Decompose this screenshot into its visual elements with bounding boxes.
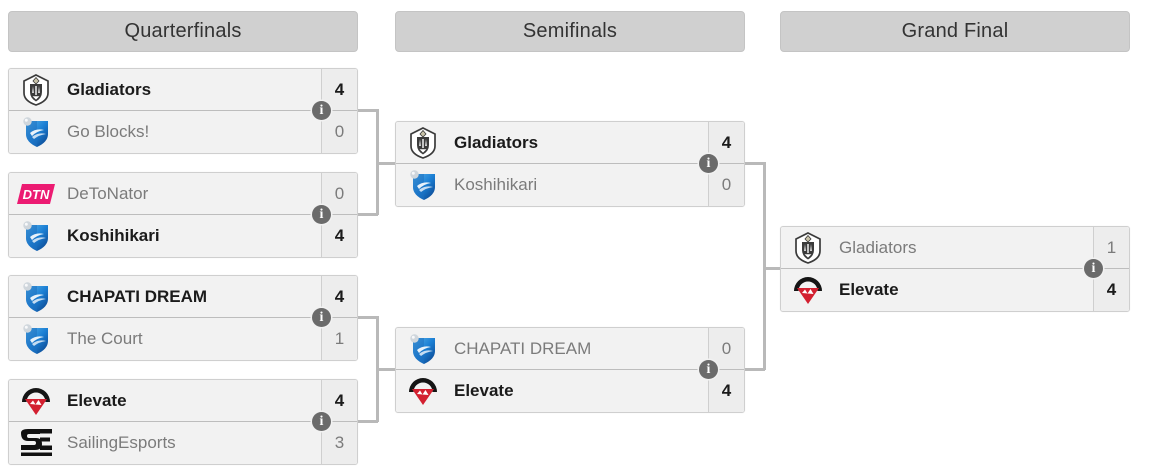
match-qf3[interactable]: CHAPATI DREAM4 The Court1 bbox=[8, 275, 358, 361]
blue-shield-logo bbox=[404, 166, 442, 204]
match-info-icon[interactable]: i bbox=[699, 360, 718, 379]
team-row[interactable]: SailingEsports3 bbox=[9, 422, 357, 464]
team-row[interactable]: Go Blocks!0 bbox=[9, 111, 357, 153]
bracket-connector-horizontal bbox=[358, 420, 378, 423]
bracket-connector-horizontal bbox=[745, 368, 765, 371]
tournament-bracket: QuarterfinalsSemifinalsGrand Final Gladi… bbox=[0, 0, 1152, 474]
team-row[interactable]: CHAPATI DREAM4 bbox=[9, 276, 357, 318]
team-name: Gladiators bbox=[55, 80, 321, 100]
blue-shield-logo bbox=[17, 278, 55, 316]
team-name: Elevate bbox=[827, 280, 1093, 300]
team-name: CHAPATI DREAM bbox=[55, 287, 321, 307]
team-name: Koshihikari bbox=[55, 226, 321, 246]
blue-shield-logo bbox=[17, 217, 55, 255]
team-name: SailingEsports bbox=[55, 433, 321, 453]
match-qf1[interactable]: Gladiators4 Go Blocks!0 bbox=[8, 68, 358, 154]
team-name: Gladiators bbox=[442, 133, 708, 153]
team-row[interactable]: The Court1 bbox=[9, 318, 357, 360]
gladiators-logo bbox=[789, 229, 827, 267]
bracket-connector-horizontal bbox=[763, 267, 780, 270]
team-name: Elevate bbox=[55, 391, 321, 411]
team-row[interactable]: Elevate4 bbox=[396, 370, 744, 412]
blue-shield-logo bbox=[404, 330, 442, 368]
bracket-connector-horizontal bbox=[376, 368, 395, 371]
team-row[interactable]: Koshihikari0 bbox=[396, 164, 744, 206]
match-info-icon[interactable]: i bbox=[312, 101, 331, 120]
bracket-connector-horizontal bbox=[358, 316, 378, 319]
match-sf1[interactable]: Gladiators4 Koshihikari0 bbox=[395, 121, 745, 207]
team-row[interactable]: Gladiators1 bbox=[781, 227, 1129, 269]
round-header-grand-final: Grand Final bbox=[780, 11, 1130, 52]
bracket-connector-horizontal bbox=[745, 162, 765, 165]
detonator-logo: DTN bbox=[17, 175, 55, 213]
elevate-logo bbox=[789, 271, 827, 309]
match-info-icon[interactable]: i bbox=[699, 154, 718, 173]
sailingesports-logo bbox=[17, 424, 55, 462]
team-name: CHAPATI DREAM bbox=[442, 339, 708, 359]
team-name: Go Blocks! bbox=[55, 122, 321, 142]
round-header-label: Quarterfinals bbox=[124, 20, 241, 43]
blue-shield-logo bbox=[17, 320, 55, 358]
round-header-label: Semifinals bbox=[523, 20, 617, 43]
team-name: Gladiators bbox=[827, 238, 1093, 258]
gladiators-logo bbox=[404, 124, 442, 162]
match-qf4[interactable]: Elevate4 SailingEsports3 bbox=[8, 379, 358, 465]
team-row[interactable]: Elevate4 bbox=[9, 380, 357, 422]
bracket-connector-horizontal bbox=[376, 162, 395, 165]
team-name: Koshihikari bbox=[442, 175, 708, 195]
team-row[interactable]: Gladiators4 bbox=[396, 122, 744, 164]
team-row[interactable]: Elevate4 bbox=[781, 269, 1129, 311]
elevate-logo bbox=[17, 382, 55, 420]
team-name: The Court bbox=[55, 329, 321, 349]
match-info-icon[interactable]: i bbox=[1084, 259, 1103, 278]
bracket-connector-horizontal bbox=[358, 213, 378, 216]
match-qf2[interactable]: DTN DeToNator0 Koshihikari4 bbox=[8, 172, 358, 258]
match-gf1[interactable]: Gladiators1 Elevate4 bbox=[780, 226, 1130, 312]
match-sf2[interactable]: CHAPATI DREAM0 Elevate4 bbox=[395, 327, 745, 413]
match-info-icon[interactable]: i bbox=[312, 308, 331, 327]
team-row[interactable]: CHAPATI DREAM0 bbox=[396, 328, 744, 370]
team-row[interactable]: DTN DeToNator0 bbox=[9, 173, 357, 215]
match-info-icon[interactable]: i bbox=[312, 205, 331, 224]
bracket-connector-vertical bbox=[763, 162, 766, 370]
blue-shield-logo bbox=[17, 113, 55, 151]
gladiators-logo bbox=[17, 71, 55, 109]
team-row[interactable]: Gladiators4 bbox=[9, 69, 357, 111]
team-name: Elevate bbox=[442, 381, 708, 401]
svg-text:DTN: DTN bbox=[23, 187, 50, 202]
team-name: DeToNator bbox=[55, 184, 321, 204]
round-header-semifinals: Semifinals bbox=[395, 11, 745, 52]
round-header-label: Grand Final bbox=[902, 20, 1009, 43]
team-row[interactable]: Koshihikari4 bbox=[9, 215, 357, 257]
match-info-icon[interactable]: i bbox=[312, 412, 331, 431]
round-header-quarterfinals: Quarterfinals bbox=[8, 11, 358, 52]
elevate-logo bbox=[404, 372, 442, 410]
bracket-connector-horizontal bbox=[358, 109, 378, 112]
